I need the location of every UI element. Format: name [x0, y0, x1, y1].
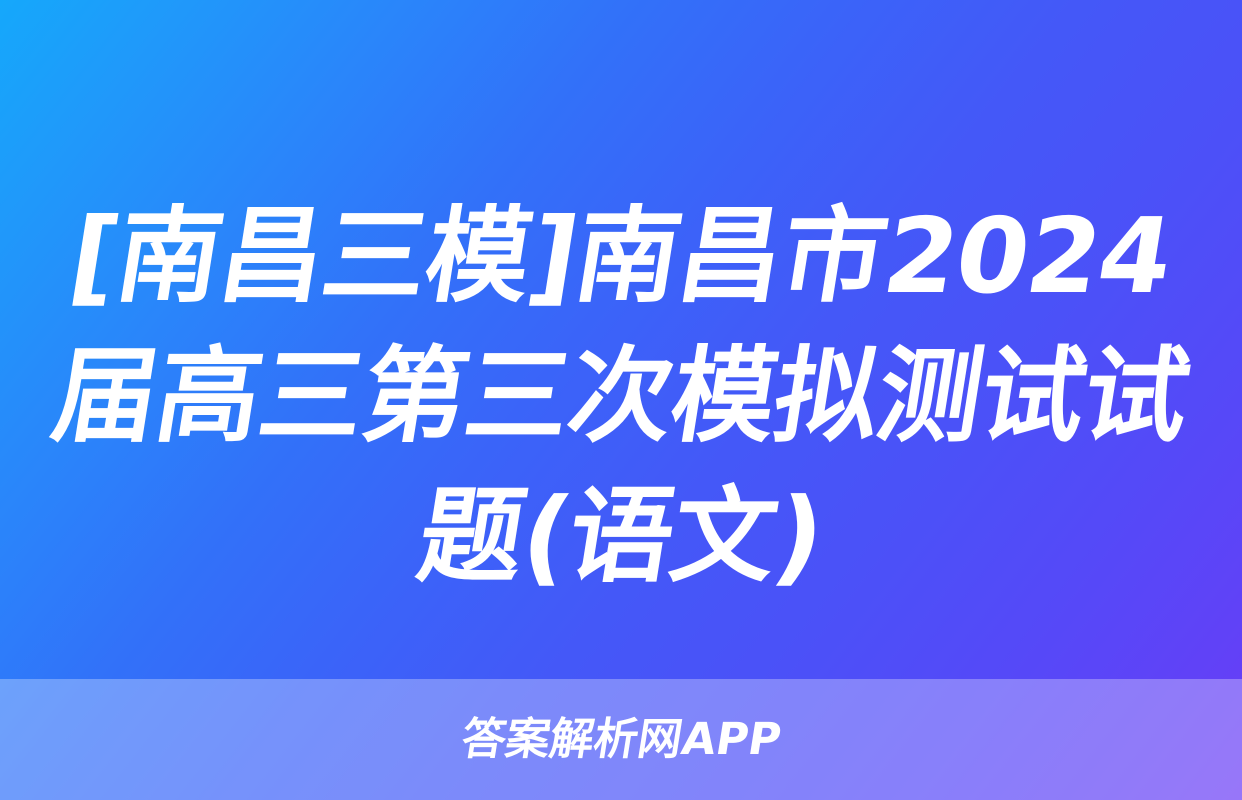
page-title: [南昌三模]南昌市2024 届高三第三次模拟测试试 题(语文) — [0, 186, 1242, 606]
title-line-2: 届高三第三次模拟测试试 — [35, 326, 1207, 466]
exam-cover-poster: [南昌三模]南昌市2024 届高三第三次模拟测试试 题(语文) 答案解析网APP — [0, 0, 1242, 800]
title-line-1: [南昌三模]南昌市2024 — [35, 186, 1207, 326]
title-line-3: 题(语文) — [35, 466, 1207, 606]
app-brand-label: 答案解析网APP — [458, 718, 784, 762]
footer-brand-band: 答案解析网APP — [0, 679, 1242, 800]
